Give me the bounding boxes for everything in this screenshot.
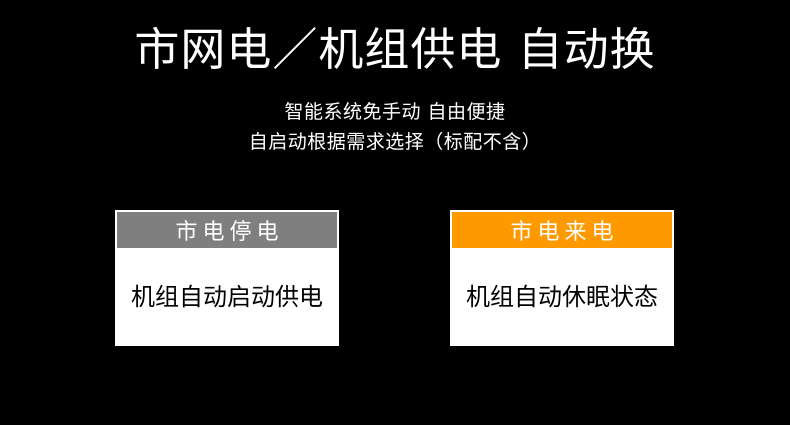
page-title: 市网电／机组供电 自动换 [0, 22, 790, 78]
subtitle-line-2: 自启动根据需求选择（标配不含） [0, 127, 790, 157]
status-card-mains-outage: 市电停电 机组自动启动供电 [115, 210, 339, 346]
status-card-body-mains-restored: 机组自动休眠状态 [452, 248, 672, 344]
status-card-group: 市电停电 机组自动启动供电 市电来电 机组自动休眠状态 [0, 210, 790, 350]
status-card-mains-restored: 市电来电 机组自动休眠状态 [450, 210, 674, 346]
subtitle-block: 智能系统免手动 自由便捷 自启动根据需求选择（标配不含） [0, 97, 790, 157]
status-card-header-mains-restored: 市电来电 [452, 212, 672, 248]
subtitle-line-1: 智能系统免手动 自由便捷 [0, 97, 790, 127]
poster-canvas: 市网电／机组供电 自动换 智能系统免手动 自由便捷 自启动根据需求选择（标配不含… [0, 0, 790, 425]
status-card-body-mains-outage: 机组自动启动供电 [117, 248, 337, 344]
status-card-header-mains-outage: 市电停电 [117, 212, 337, 248]
